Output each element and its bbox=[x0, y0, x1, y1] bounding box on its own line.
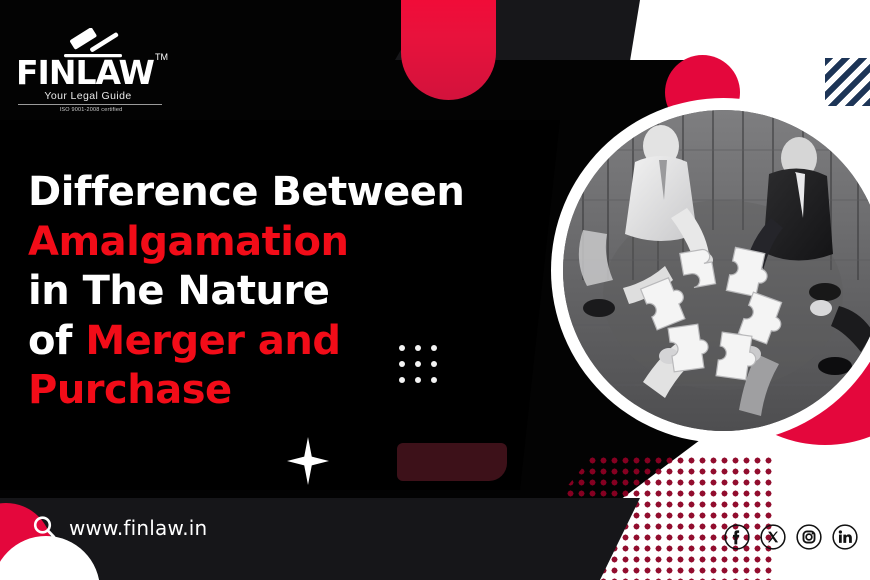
headline-line-3: in The Nature bbox=[28, 267, 498, 317]
trademark-symbol: TM bbox=[155, 52, 168, 62]
facebook-icon[interactable] bbox=[724, 524, 750, 550]
linkedin-icon[interactable] bbox=[832, 524, 858, 550]
logo-divider bbox=[18, 104, 162, 105]
headline-line-2: Amalgamation bbox=[28, 218, 498, 268]
headline-line-5: Purchase bbox=[28, 366, 498, 416]
headline-line-4: of Merger and bbox=[28, 317, 498, 367]
headline-line-4-plain: of bbox=[28, 318, 85, 364]
search-icon bbox=[32, 515, 57, 540]
x-twitter-icon[interactable] bbox=[760, 524, 786, 550]
instagram-icon[interactable] bbox=[796, 524, 822, 550]
finlaw-logo[interactable]: FINLAW TM Your Legal Guide ISO 9001-2008… bbox=[16, 30, 166, 113]
maroon-rounded-rect bbox=[397, 443, 507, 481]
logo-certification: ISO 9001-2008 certified bbox=[16, 107, 166, 113]
team-puzzle-photo bbox=[563, 110, 870, 431]
navy-stripe-square bbox=[825, 58, 870, 106]
website-url-text: www.finlaw.in bbox=[69, 516, 207, 540]
social-links bbox=[724, 524, 858, 550]
headline-line-4-red: Merger and bbox=[85, 318, 340, 364]
headline-line-1: Difference Between bbox=[28, 168, 498, 218]
page-title: Difference Between Amalgamation in The N… bbox=[28, 168, 498, 416]
red-pill-top bbox=[401, 0, 496, 100]
website-link[interactable]: www.finlaw.in bbox=[32, 515, 207, 540]
gavel-icon bbox=[64, 28, 124, 58]
blog-banner: FINLAW TM Your Legal Guide ISO 9001-2008… bbox=[0, 0, 870, 580]
